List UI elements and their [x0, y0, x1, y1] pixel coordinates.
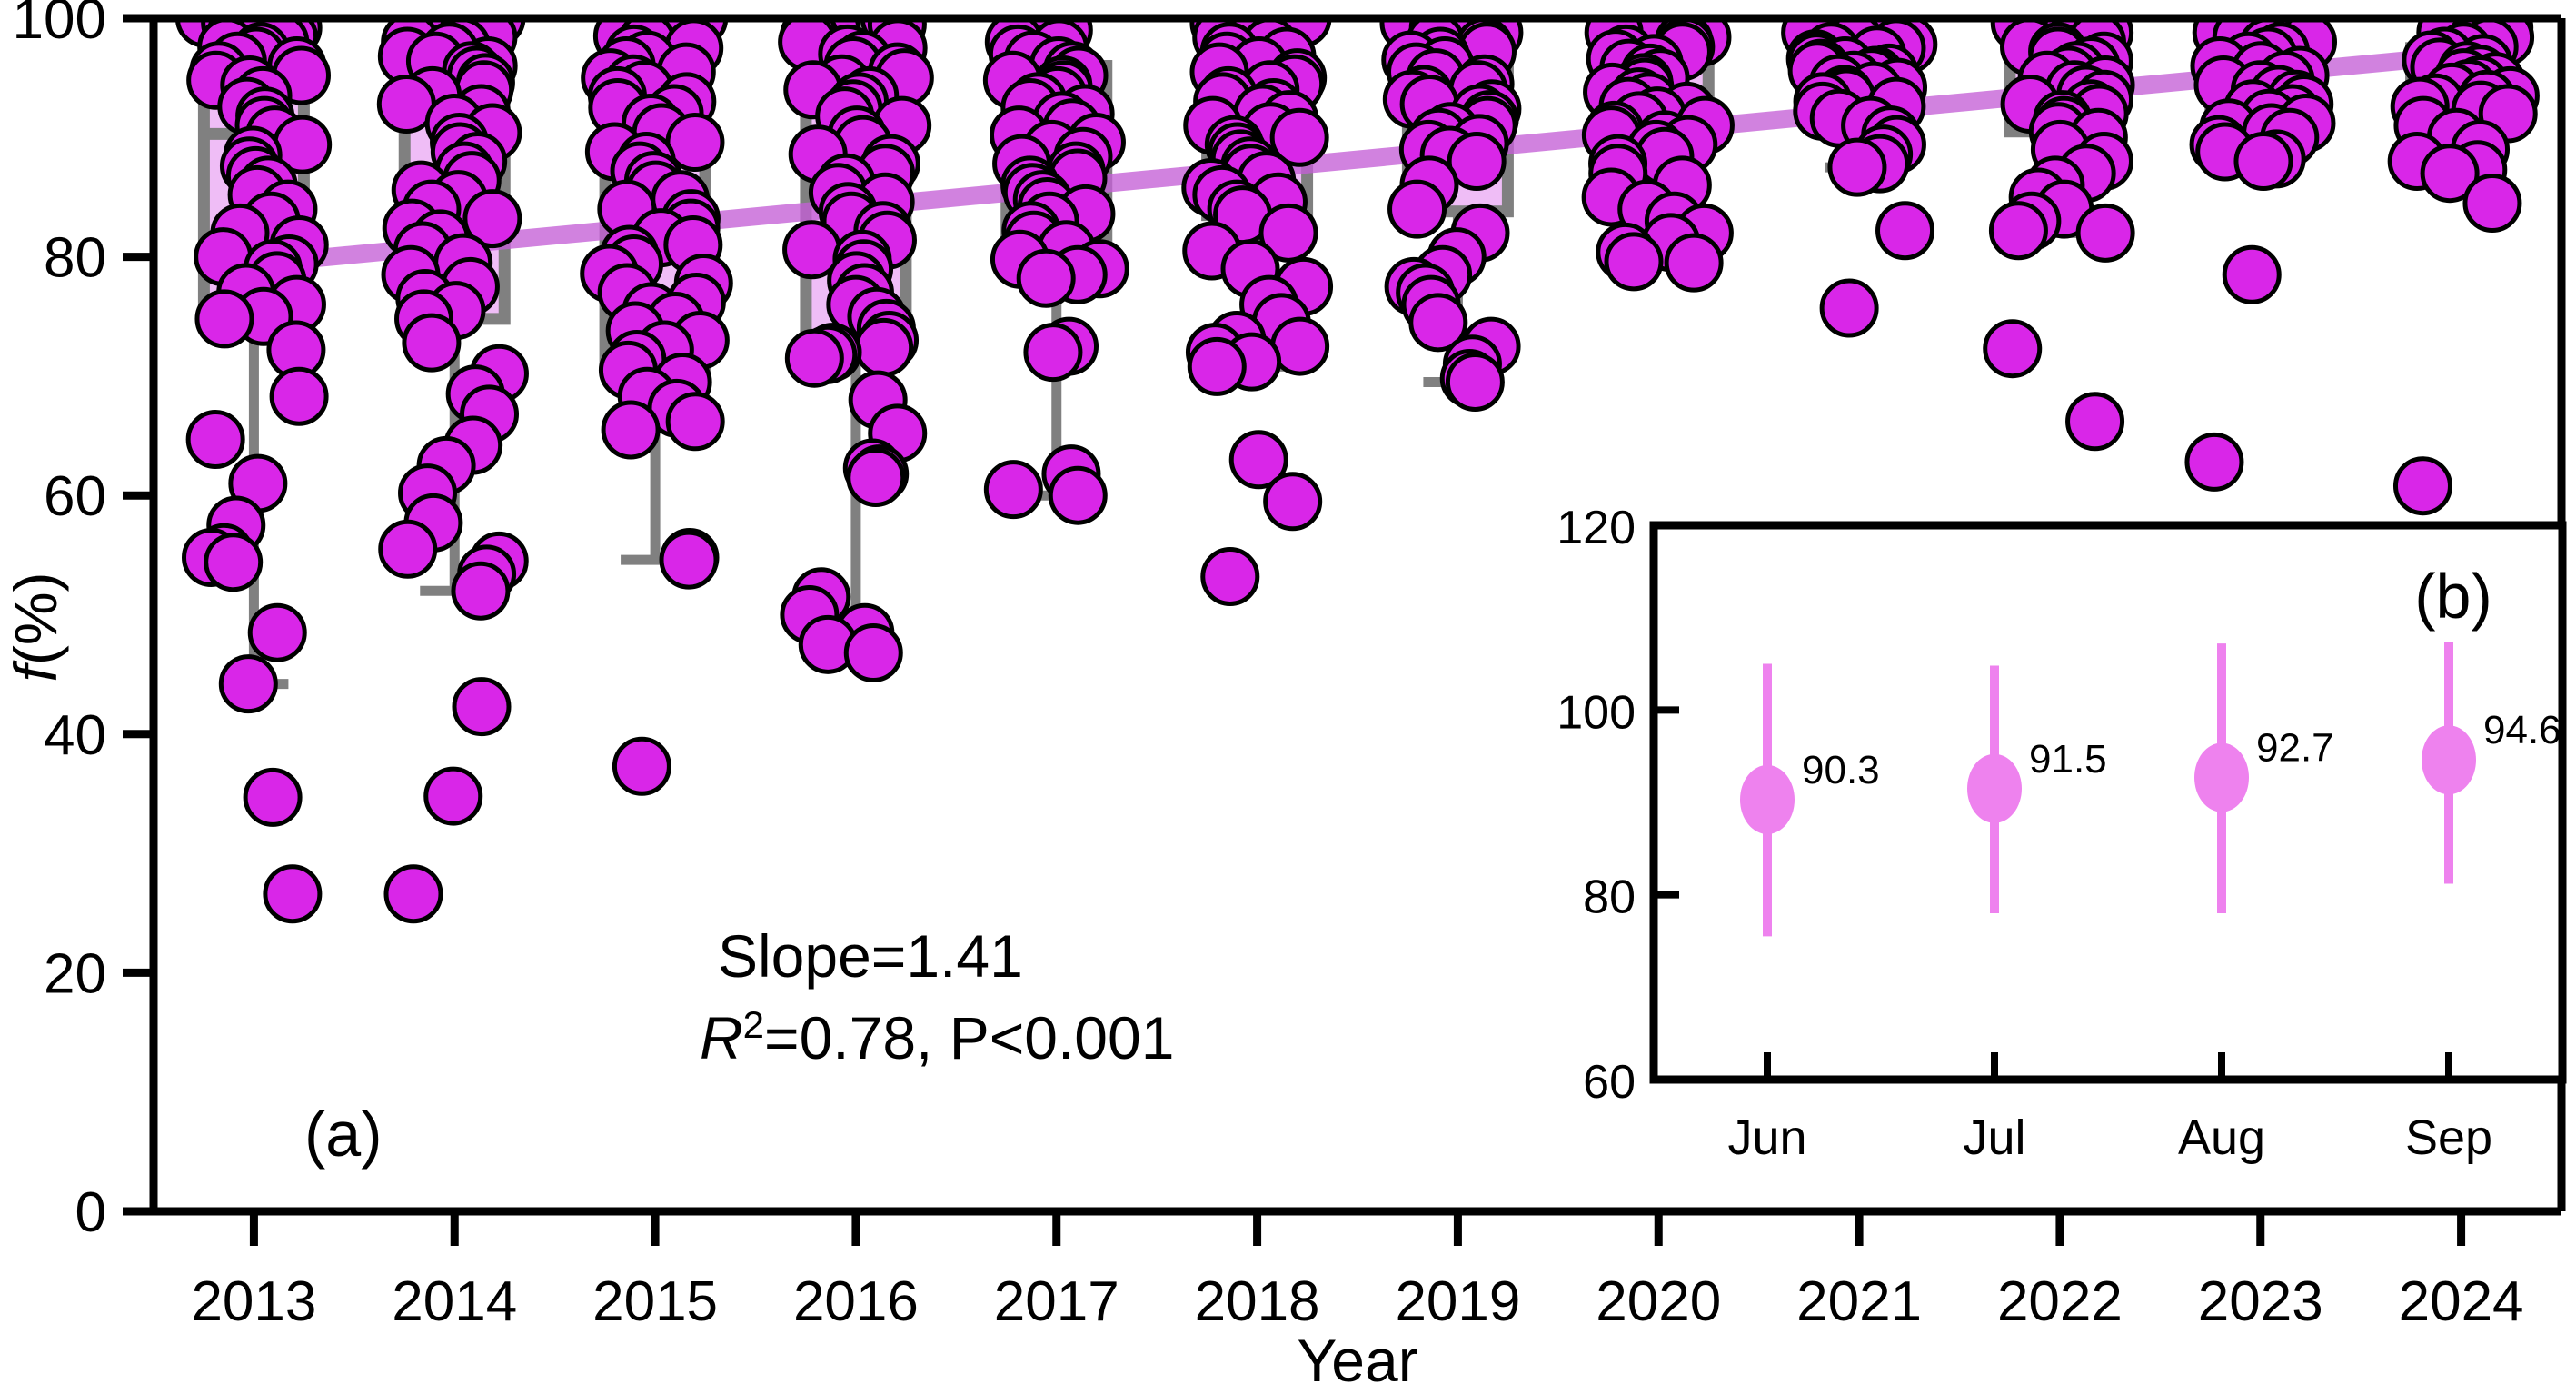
x-tick-label: 2013 [191, 1270, 316, 1333]
y-axis-title: f(%) [2, 573, 69, 682]
data-point [1019, 251, 1073, 305]
data-point [1822, 281, 1876, 335]
x-tick-label: 2024 [2399, 1270, 2524, 1333]
inset-value-label: 92.7 [2256, 726, 2334, 771]
data-point [986, 463, 1040, 517]
data-point [404, 315, 459, 370]
panel-a-label: (a) [304, 1099, 383, 1170]
data-point [1666, 235, 1721, 290]
data-point [661, 533, 716, 587]
data-point [1985, 322, 2040, 376]
data-point [206, 535, 261, 590]
annotation-stats: R2=0.78, P<0.001 [700, 1003, 1174, 1072]
data-point [265, 867, 320, 921]
y-tick-label: 100 [13, 0, 106, 51]
data-point [2078, 205, 2133, 260]
x-tick-label: 2016 [793, 1270, 919, 1333]
inset-x-tick-label: Sep [2405, 1110, 2492, 1165]
data-point [849, 451, 903, 505]
data-point [1447, 354, 1502, 409]
data-point [1830, 140, 1885, 194]
annotation-stats-sup: 2 [743, 1003, 764, 1046]
figure-root: 020406080100 201320142015201620172018201… [0, 0, 2576, 1394]
x-tick-label: 2021 [1796, 1270, 1922, 1333]
data-point [245, 770, 300, 824]
data-point [857, 320, 911, 374]
inset-y-tick-label: 80 [1583, 871, 1636, 924]
inset-panel-b: 90.391.592.794.6 6080100120 JunJulAugSep… [1557, 502, 2562, 1165]
points-2020 [1584, 0, 1732, 290]
chart-canvas: 020406080100 201320142015201620172018201… [0, 0, 2576, 1394]
x-axis-title: Year [1297, 1327, 1417, 1394]
x-tick-layer: 2013201420152016201720182019202020212022… [191, 1211, 2523, 1333]
x-tick-label: 2022 [1997, 1270, 2123, 1333]
inset-x-tick-label: Aug [2178, 1110, 2265, 1165]
data-point [1189, 339, 1244, 393]
inset-value-label: 94.6 [2483, 708, 2561, 752]
points-2024 [2390, 0, 2537, 513]
inset-x-tick-label: Jun [1727, 1110, 1806, 1165]
inset-marker [1967, 754, 2022, 823]
data-point [1991, 204, 2045, 258]
x-tick-label: 2020 [1596, 1270, 1721, 1333]
data-point [614, 739, 669, 793]
data-point [197, 292, 252, 346]
inset-y-tick-label: 120 [1557, 502, 1636, 554]
y-tick-label: 20 [44, 942, 106, 1005]
data-point [1606, 234, 1661, 289]
data-point [2395, 459, 2450, 513]
x-tick-label: 2014 [392, 1270, 517, 1333]
data-point [2224, 247, 2279, 302]
panel-b-label: (b) [2414, 561, 2492, 632]
y-tick-label: 0 [75, 1181, 106, 1244]
data-point [787, 331, 841, 385]
data-point [426, 769, 481, 823]
data-point [1390, 182, 1445, 236]
data-point [453, 563, 508, 618]
y-tick-label: 40 [44, 704, 106, 767]
y-axis-title-rest: (%) [2, 573, 69, 666]
inset-x-tick-label: Jul [1963, 1110, 2025, 1165]
data-point [250, 605, 304, 660]
points-2021 [1784, 0, 1935, 335]
data-point [272, 369, 326, 423]
svg-text:f(%): f(%) [2, 573, 69, 682]
y-tick-label: 80 [44, 227, 106, 290]
inset-marker [2194, 743, 2249, 812]
data-point [2187, 434, 2242, 489]
y-tick-label: 60 [44, 465, 106, 528]
inset-value-label: 91.5 [2029, 737, 2107, 782]
data-point [846, 626, 900, 681]
inset-value-label: 90.3 [1802, 748, 1880, 792]
data-point [1026, 325, 1080, 380]
data-point [221, 657, 275, 712]
x-tick-label: 2019 [1395, 1270, 1520, 1333]
data-point [2236, 134, 2291, 189]
data-point [2068, 394, 2123, 449]
data-point [1050, 468, 1105, 523]
data-point [603, 403, 658, 457]
annotation-stats-r: R [700, 1004, 743, 1071]
x-tick-label: 2018 [1195, 1270, 1320, 1333]
data-point [2465, 176, 2520, 231]
x-tick-label: 2017 [994, 1270, 1119, 1333]
points-2018 [1184, 0, 1331, 603]
data-point [386, 867, 441, 921]
data-point [381, 522, 435, 576]
inset-y-tick-label: 100 [1557, 686, 1636, 739]
data-point [454, 680, 509, 734]
data-point [1266, 474, 1320, 529]
x-tick-label: 2015 [592, 1270, 718, 1333]
annotation-stats-rest: =0.78, P<0.001 [764, 1004, 1174, 1071]
data-point [1203, 549, 1258, 603]
data-point [1878, 204, 1933, 258]
points-2015 [582, 0, 731, 793]
x-tick-label: 2023 [2198, 1270, 2323, 1333]
data-point [188, 412, 243, 466]
points-2023 [2187, 0, 2335, 489]
inset-marker [1740, 765, 1795, 834]
annotation-slope: Slope=1.41 [718, 922, 1023, 990]
data-point [668, 394, 722, 449]
inset-y-tick-label: 60 [1583, 1056, 1636, 1109]
inset-marker [2422, 725, 2476, 794]
